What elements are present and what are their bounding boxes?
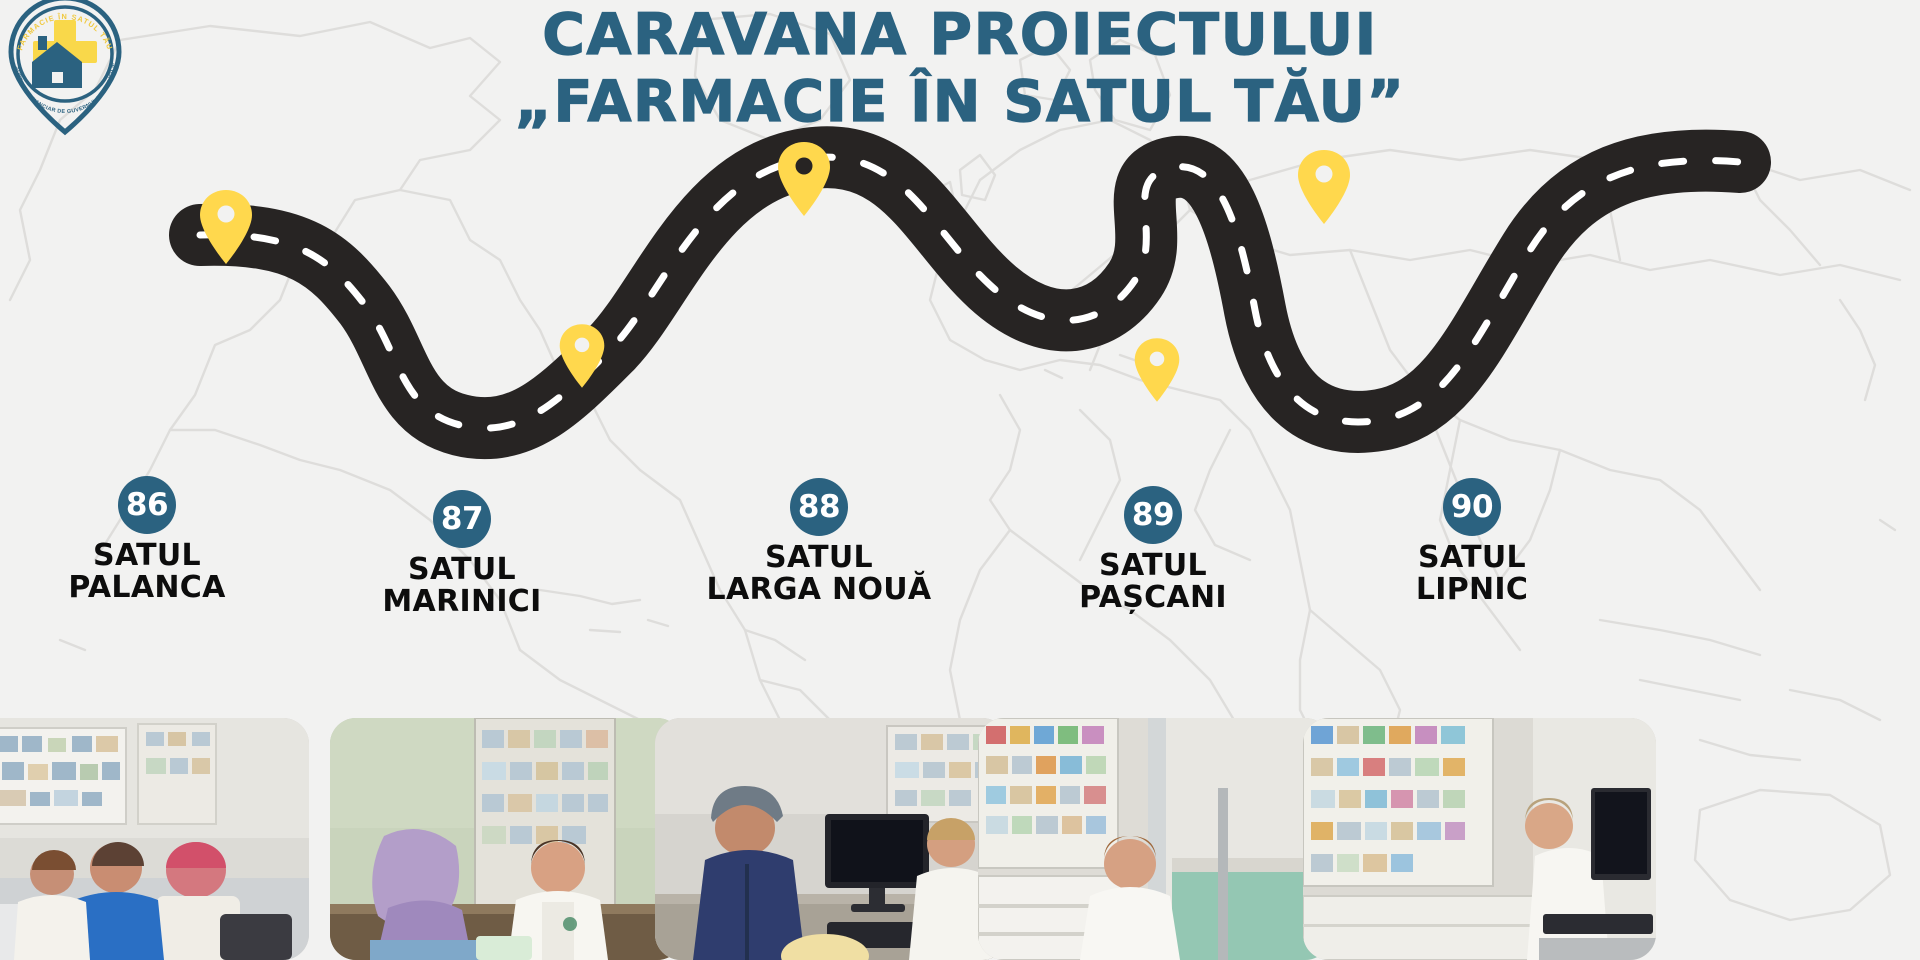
stop-86[interactable]: 86 SATUL PALANCA (0, 476, 297, 605)
stop-name-86-line1: SATUL (0, 540, 297, 572)
stop-name-88-line2: LARGA NOUĂ (669, 574, 969, 606)
photo-lipnic-image (1303, 718, 1656, 960)
photo-pascani-image (978, 718, 1331, 960)
map-pin-5 (1133, 336, 1181, 404)
photo-larga-noua[interactable] (655, 718, 1008, 960)
photo-marinici[interactable] (330, 718, 683, 960)
stop-badge-86: 86 (118, 476, 176, 534)
title-block: CARAVANA PROIECTULUI „FARMACIE ÎN SATUL … (0, 6, 1920, 133)
project-logo: FARMACIE ÎN SATUL TĂU PROIECT SUSȚINUT F… (2, 0, 128, 136)
product-box (476, 936, 532, 960)
stop-badge-88: 88 (790, 478, 848, 536)
stop-name-87-line1: SATUL (312, 554, 612, 586)
stop-name-88-line1: SATUL (669, 542, 969, 574)
stop-badge-89: 89 (1124, 486, 1182, 544)
photo-pascani[interactable] (978, 718, 1331, 960)
map-pin-3 (1296, 148, 1352, 226)
page-title-line-2: „FARMACIE ÎN SATUL TĂU” (0, 73, 1920, 132)
road-asphalt (200, 157, 1740, 428)
stop-badge-87: 87 (433, 490, 491, 548)
stop-name-86-line2: PALANCA (0, 572, 297, 604)
stop-name-87-line2: MARINICI (312, 586, 612, 618)
stop-badge-90: 90 (1443, 478, 1501, 536)
map-pin-2 (776, 140, 832, 218)
bag (220, 914, 292, 960)
photo-palanca-image (0, 718, 309, 960)
photo-strip (0, 718, 1920, 960)
photo-marinici-image (330, 718, 683, 960)
support-post (1218, 788, 1228, 960)
photo-palanca[interactable] (0, 718, 309, 960)
computer-monitor-lipnic (1591, 788, 1651, 880)
photo-larga-noua-image (655, 718, 1008, 960)
stop-name-90-line1: SATUL (1322, 542, 1622, 574)
stop-89[interactable]: 89 SATUL PAȘCANI (1003, 486, 1303, 615)
stop-88[interactable]: 88 SATUL LARGA NOUĂ (669, 478, 969, 607)
stop-90[interactable]: 90 SATUL LIPNIC (1322, 478, 1622, 607)
desk-edge (1539, 938, 1656, 960)
stop-name-90-line2: LIPNIC (1322, 574, 1622, 606)
stop-name-89-line1: SATUL (1003, 550, 1303, 582)
map-pin-4 (558, 322, 606, 390)
stop-87[interactable]: 87 SATUL MARINICI (312, 490, 612, 619)
road-path (0, 120, 1920, 480)
photo-lipnic[interactable] (1303, 718, 1656, 960)
map-pin-1 (198, 188, 254, 266)
stops-row: 86 SATUL PALANCA 87 SATUL MARINICI 88 SA… (0, 568, 1920, 698)
page-title-line-1: CARAVANA PROIECTULUI (0, 6, 1920, 65)
stop-name-89-line2: PAȘCANI (1003, 582, 1303, 614)
keyboard-lipnic (1543, 914, 1653, 934)
